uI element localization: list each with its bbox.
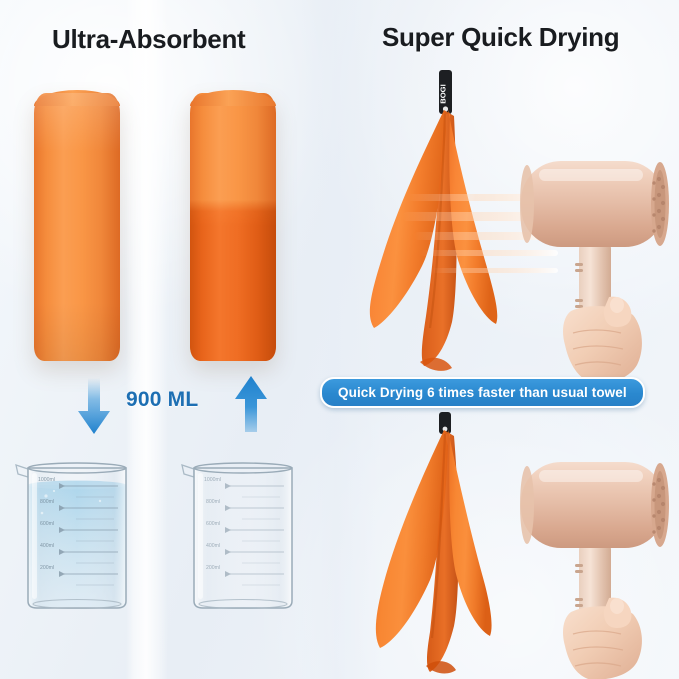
svg-text:1000ml: 1000ml <box>204 477 221 483</box>
svg-text:400ml: 400ml <box>206 543 220 549</box>
capacity-label: 900 ML <box>126 388 198 412</box>
svg-text:200ml: 200ml <box>40 565 54 571</box>
quick-dry-badge: Quick Drying 6 times faster than usual t… <box>320 377 645 408</box>
svg-text:600ml: 600ml <box>206 521 220 527</box>
beaker-filled: 1000ml 800ml 600ml 400ml 200ml <box>14 455 138 615</box>
svg-text:200ml: 200ml <box>206 565 220 571</box>
hair-dryer-bottom <box>505 440 679 679</box>
towel-roll-top-edge <box>190 90 276 106</box>
arrow-down-icon <box>77 378 111 434</box>
headline-ultra-absorbent: Ultra-Absorbent <box>52 24 245 55</box>
beaker-empty: 1000ml 800ml 600ml 400ml 200ml <box>180 455 304 615</box>
hand <box>563 297 642 384</box>
wet-rolled-towel <box>190 93 276 361</box>
towel-roll-top-edge <box>34 90 120 106</box>
hair-dryer-top <box>505 135 679 385</box>
svg-text:1000ml: 1000ml <box>38 477 55 483</box>
product-feature-image: Ultra-Absorbent Super Quick Drying 900 M <box>0 0 679 679</box>
svg-text:400ml: 400ml <box>40 543 54 549</box>
arrow-up-icon <box>234 376 268 432</box>
svg-text:600ml: 600ml <box>40 521 54 527</box>
svg-text:800ml: 800ml <box>40 499 54 505</box>
svg-text:BOGI: BOGI <box>439 84 448 103</box>
hand <box>563 598 642 679</box>
dry-rolled-towel <box>34 93 120 361</box>
headline-super-quick-drying: Super Quick Drying <box>382 22 619 53</box>
svg-text:800ml: 800ml <box>206 499 220 505</box>
hang-tag: BOGI <box>439 70 453 114</box>
